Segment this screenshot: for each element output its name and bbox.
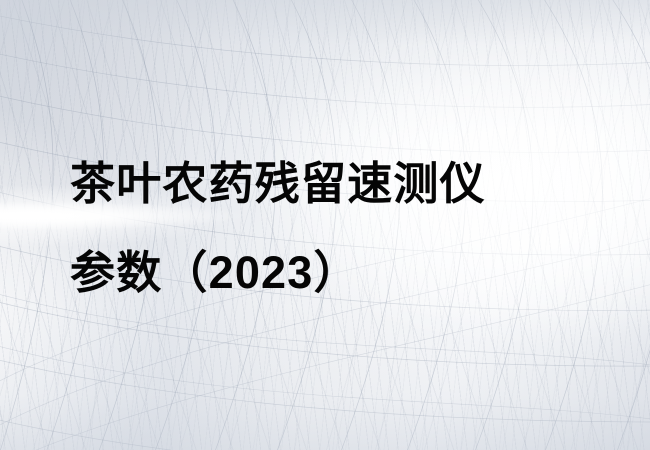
- banner-image: 茶叶农药残留速测仪 参数（2023）: [0, 0, 650, 450]
- page-title-line-1: 茶叶农药残留速测仪: [70, 139, 600, 228]
- page-title-line-2: 参数（2023）: [70, 228, 600, 317]
- page-title: 茶叶农药残留速测仪 参数（2023）: [70, 139, 600, 317]
